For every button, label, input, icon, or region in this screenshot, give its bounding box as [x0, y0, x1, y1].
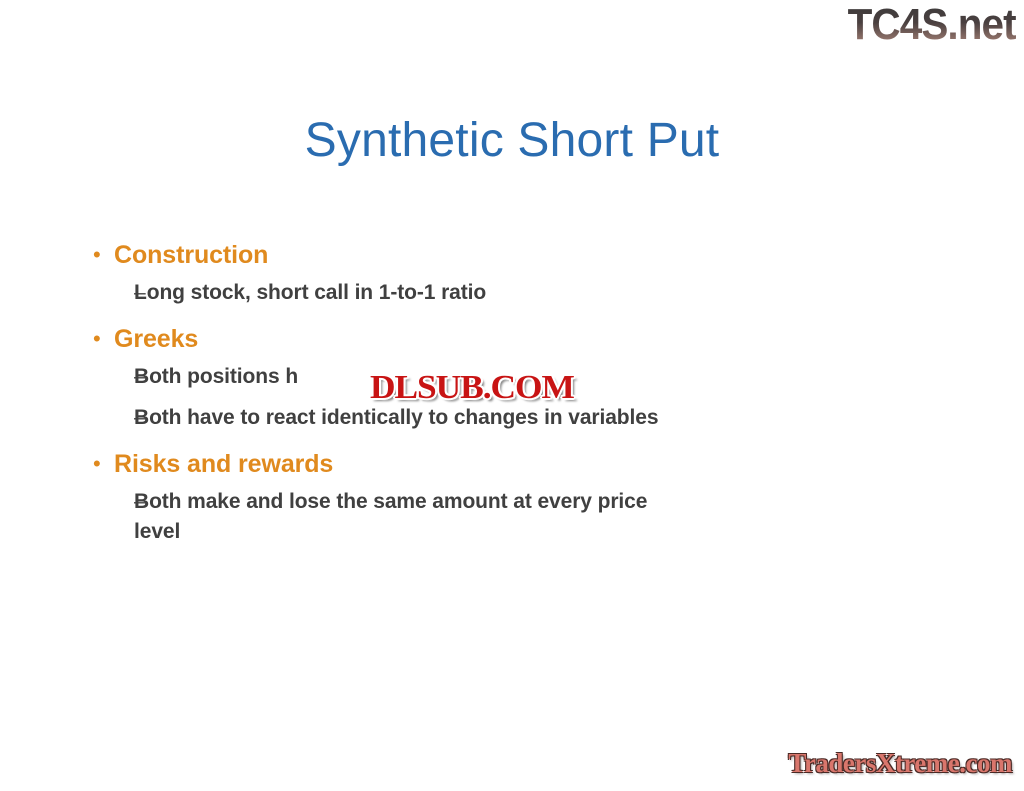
dash-icon: –: [88, 278, 134, 308]
topic-label-construction: Construction: [114, 238, 268, 272]
dash-icon: –: [88, 362, 134, 392]
list-item: – Both have to react identically to chan…: [88, 403, 748, 433]
list-item: – Long stock, short call in 1-to-1 ratio: [88, 278, 748, 308]
sub-point-text: Both have to react identically to change…: [134, 403, 658, 433]
topic-heading-row: • Greeks: [88, 322, 748, 356]
topic-heading-row: • Construction: [88, 238, 748, 272]
presentation-slide: TC4S.net Synthetic Short Put • Construct…: [0, 0, 1024, 791]
list-item: – Both make and lose the same amount at …: [88, 487, 748, 547]
topic-label-greeks: Greeks: [114, 322, 198, 356]
sub-point-list: – Long stock, short call in 1-to-1 ratio: [88, 278, 748, 308]
tradersxtreme-site-logo: TradersXtreme.com: [788, 747, 1012, 779]
bullet-dot-icon: •: [88, 322, 114, 356]
topic-label-risks-and-rewards: Risks and rewards: [114, 447, 333, 481]
sub-point-text-occluded: Both positions h: [134, 362, 298, 392]
dlsub-watermark: DLSUB.COM: [370, 369, 574, 407]
dash-icon: –: [88, 487, 134, 517]
list-item: • Risks and rewards – Both make and lose…: [88, 447, 748, 547]
bullet-dot-icon: •: [88, 238, 114, 272]
tc4s-brand-logo: TC4S.net: [848, 0, 1016, 50]
sub-point-list: – Both make and lose the same amount at …: [88, 487, 748, 547]
list-item: • Construction – Long stock, short call …: [88, 238, 748, 308]
sub-point-text: Both make and lose the same amount at ev…: [134, 487, 679, 547]
bullet-dot-icon: •: [88, 447, 114, 481]
topic-heading-row: • Risks and rewards: [88, 447, 748, 481]
dash-icon: –: [88, 403, 134, 433]
sub-point-text: Long stock, short call in 1-to-1 ratio: [134, 278, 486, 308]
page-title: Synthetic Short Put: [0, 112, 1024, 170]
